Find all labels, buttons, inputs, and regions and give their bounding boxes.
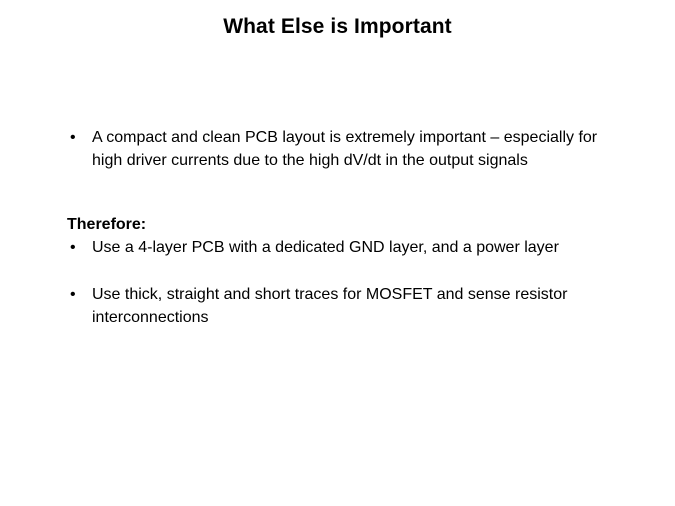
bullet-icon: •: [66, 237, 92, 260]
spacer: [66, 259, 611, 284]
page-title: What Else is Important: [0, 14, 675, 40]
list-item-text: A compact and clean PCB layout is extrem…: [92, 127, 598, 172]
list-item: • A compact and clean PCB layout is extr…: [66, 127, 611, 172]
list-item: • Use thick, straight and short traces f…: [66, 284, 611, 329]
bullet-icon: •: [66, 284, 92, 307]
slide-canvas: What Else is Important • A compact and c…: [0, 0, 675, 506]
list-item: • Use a 4-layer PCB with a dedicated GND…: [66, 237, 611, 260]
therefore-heading: Therefore:: [66, 214, 611, 237]
slide-body: • A compact and clean PCB layout is extr…: [66, 127, 611, 329]
list-item-text: Use a 4-layer PCB with a dedicated GND l…: [92, 237, 598, 260]
spacer: [66, 172, 611, 214]
bullet-icon: •: [66, 127, 92, 150]
list-item-text: Use thick, straight and short traces for…: [92, 284, 598, 329]
